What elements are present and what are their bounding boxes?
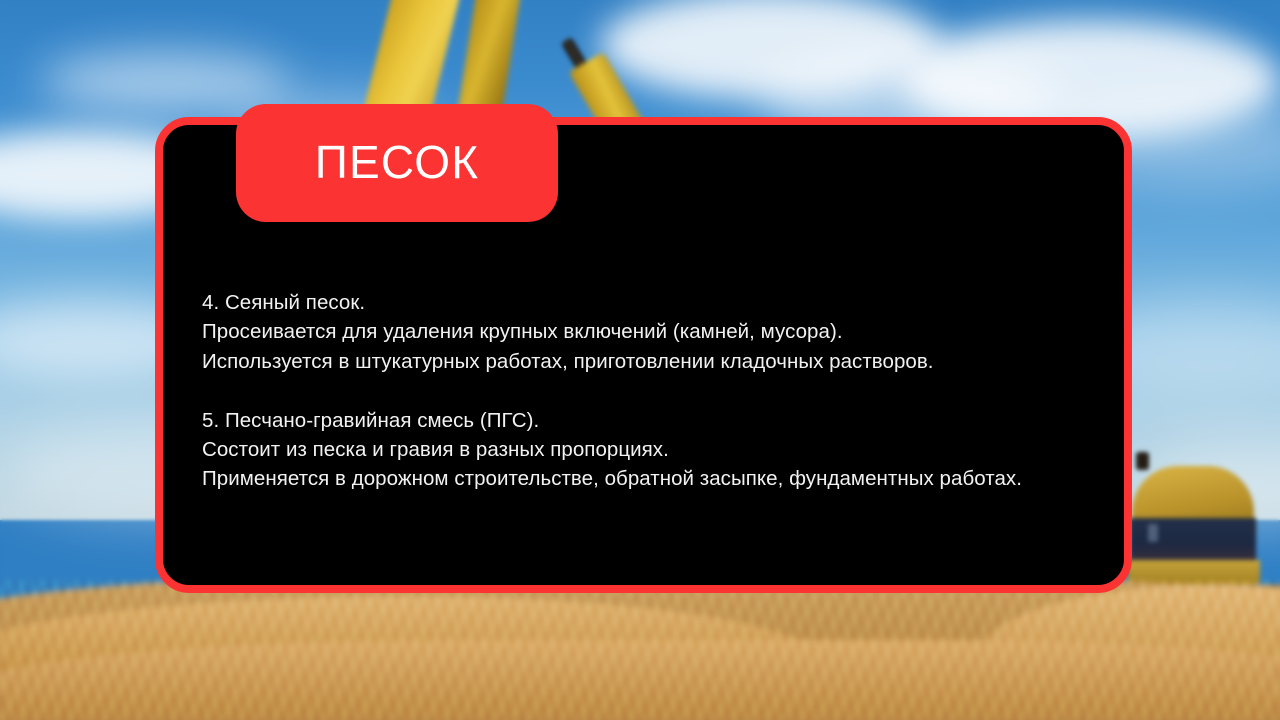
body-line: Состоит из песка и гравия в разных пропо… [202,435,1096,464]
body-line-spacer [202,376,1096,405]
body-line: Применяется в дорожном строительстве, об… [202,464,1096,493]
card-body-text: 4. Сеяный песок. Просеивается для удален… [202,288,1096,494]
page-title: ПЕСОК [315,139,480,185]
slide: 4. Сеяный песок. Просеивается для удален… [0,0,1280,720]
body-line: 5. Песчано-гравийная смесь (ПГС). [202,406,1096,435]
body-line: 4. Сеяный песок. [202,288,1096,317]
excavator-exhaust [1136,452,1149,470]
body-line: Используется в штукатурных работах, приг… [202,347,1096,376]
excavator-cab-window [1148,524,1158,542]
sand-texture [0,580,1280,720]
body-line: Просеивается для удаления крупных включе… [202,317,1096,346]
title-badge: ПЕСОК [236,104,558,222]
